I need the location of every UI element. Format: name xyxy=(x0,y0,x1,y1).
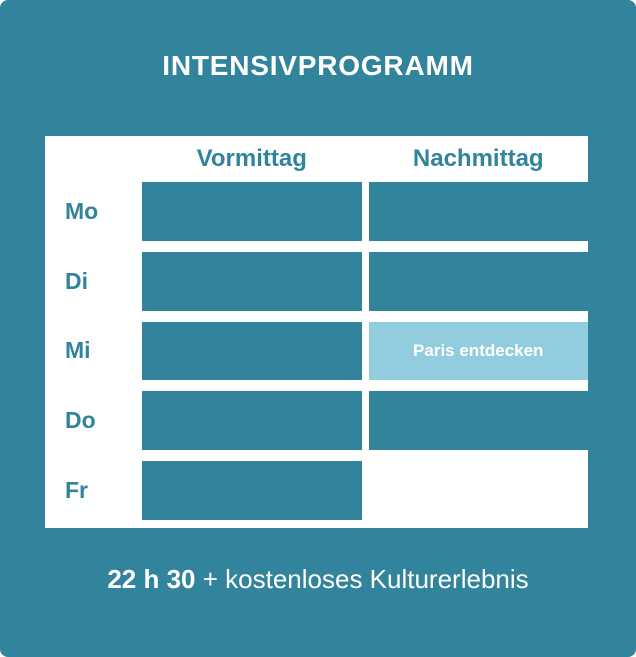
day-label-fr: Fr xyxy=(45,461,142,520)
slot-do-morning[interactable] xyxy=(142,391,362,450)
schedule-row-fr: Fr xyxy=(45,461,588,520)
footer-extra-text: + kostenloses Kulturerlebnis xyxy=(196,564,529,594)
day-label-mi: Mi xyxy=(45,322,142,381)
schedule-body: Mo Di Mi Paris entdecken Do xyxy=(45,182,588,528)
column-header-afternoon: Nachmittag xyxy=(369,147,589,171)
day-label-do: Do xyxy=(45,391,142,450)
slot-do-afternoon[interactable] xyxy=(369,391,589,450)
slot-mo-morning[interactable] xyxy=(142,182,362,241)
schedule-row-do: Do xyxy=(45,391,588,461)
slot-mi-afternoon[interactable]: Paris entdecken xyxy=(369,322,589,381)
slot-di-morning[interactable] xyxy=(142,252,362,311)
page-title: INTENSIVPROGRAMM xyxy=(162,52,473,80)
column-header-morning: Vormittag xyxy=(142,147,362,171)
footer-hours: 22 h 30 xyxy=(107,564,195,594)
slot-fr-morning[interactable] xyxy=(142,461,362,520)
schedule-row-di: Di xyxy=(45,252,588,322)
slot-mi-morning[interactable] xyxy=(142,322,362,381)
program-poster: INTENSIVPROGRAMM Vormittag Nachmittag Mo… xyxy=(0,0,636,657)
day-label-di: Di xyxy=(45,252,142,311)
slot-di-afternoon[interactable] xyxy=(369,252,589,311)
schedule-row-mi: Mi Paris entdecken xyxy=(45,322,588,392)
slot-mo-afternoon[interactable] xyxy=(369,182,589,241)
footer-summary: 22 h 30 + kostenloses Kulturerlebnis xyxy=(0,566,636,592)
schedule-card: Vormittag Nachmittag Mo Di Mi Paris entd… xyxy=(45,136,588,528)
day-label-mo: Mo xyxy=(45,182,142,241)
schedule-header-row: Vormittag Nachmittag xyxy=(45,136,588,182)
slot-fr-afternoon[interactable] xyxy=(369,461,589,520)
schedule-row-mo: Mo xyxy=(45,182,588,252)
